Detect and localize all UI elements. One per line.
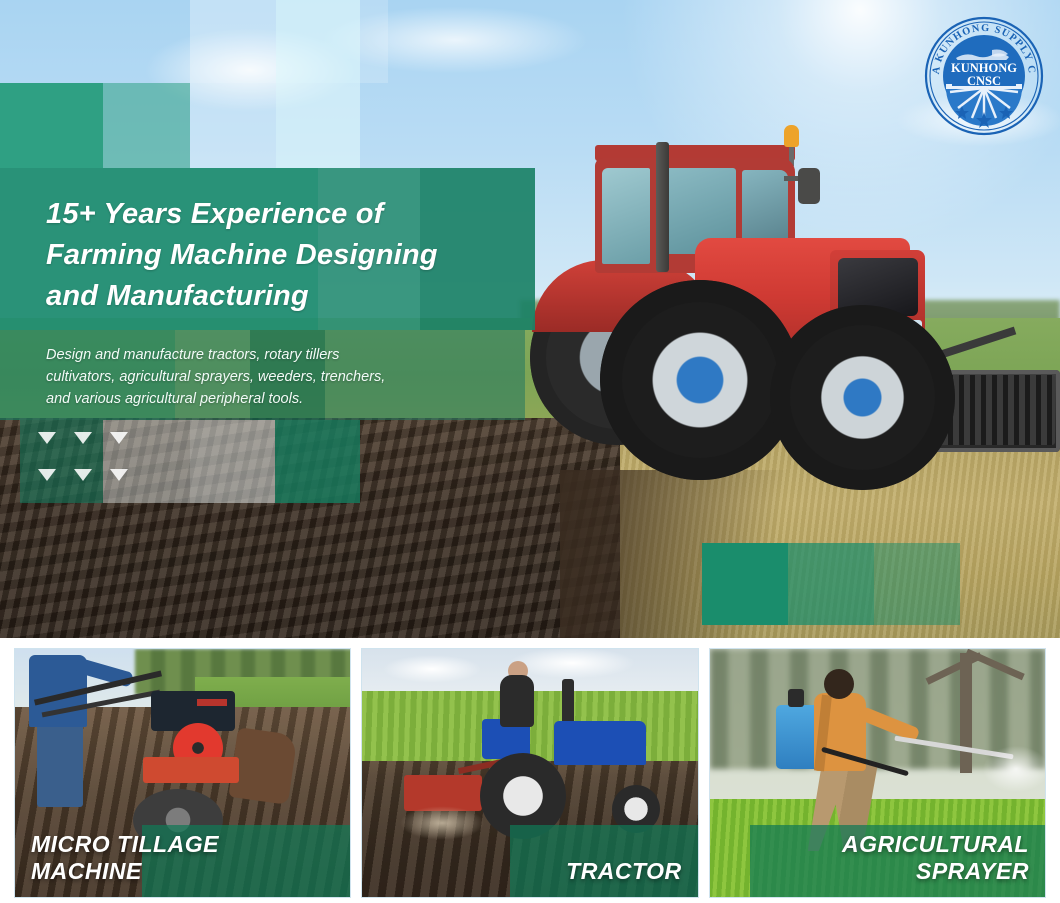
card3-spray-mist <box>972 737 1046 807</box>
card1-engine-label <box>197 699 227 706</box>
tractor-cab-window-left <box>602 168 650 264</box>
decor-block-sky-2 <box>190 83 276 168</box>
hero-headline: 15+ Years Experience of Farming Machine … <box>46 194 526 318</box>
subtext-line-1: Design and manufacture tractors, rotary … <box>46 344 486 366</box>
card3-sprayer-tank-lid <box>788 689 804 707</box>
card2-exhaust-pipe <box>562 679 574 727</box>
decor-block-bottom-3 <box>190 420 275 503</box>
logo-center-line-2: CNSC <box>967 74 1001 88</box>
tractor-beacon-light <box>784 125 799 147</box>
card1-tiller-body <box>143 757 239 783</box>
product-card-micro-tillage[interactable]: MICRO TILLAGE MACHINE <box>14 648 351 898</box>
subtext-line-2: cultivators, agricultural sprayers, weed… <box>46 366 486 388</box>
decor-block-teal-solid <box>0 83 103 168</box>
tractor-side-mirror <box>798 168 820 204</box>
product-card-row: MICRO TILLAGE MACHINE TRACTOR <box>0 638 1060 903</box>
card1-label: MICRO TILLAGE MACHINE <box>15 831 350 885</box>
decor-block-right-1 <box>702 543 788 625</box>
subtext-line-3: and various agricultural peripheral tool… <box>46 388 486 410</box>
card2-label: TRACTOR <box>362 858 697 885</box>
card2-driver-body <box>500 675 534 727</box>
company-logo[interactable]: KUNHONG CNSC CHINA KUNHONG SUPPLY CHAIN <box>922 14 1046 138</box>
triangle-down-icon <box>74 432 92 444</box>
decor-block-right-2 <box>788 543 874 625</box>
product-card-sprayer[interactable]: AGRICULTURAL SPRAYER <box>709 648 1046 898</box>
decor-block-sky-3 <box>276 0 360 83</box>
triangle-down-icon <box>38 469 56 481</box>
triangle-down-icon <box>38 432 56 444</box>
card3-farmer-head <box>824 669 854 699</box>
card3-label: AGRICULTURAL SPRAYER <box>710 831 1045 885</box>
headline-line-2: Farming Machine Designing <box>46 235 526 276</box>
headline-line-3: and Manufacturing <box>46 276 526 317</box>
decor-block-sky-4 <box>276 83 360 168</box>
card3-tree-trunk <box>960 653 972 773</box>
decor-block-right-3 <box>874 543 960 625</box>
product-card-tractor[interactable]: TRACTOR <box>361 648 698 898</box>
card1-operator-legs <box>37 723 83 807</box>
triangle-down-icon <box>110 432 128 444</box>
red-tractor-illustration <box>540 120 1060 540</box>
triangle-down-icon <box>74 469 92 481</box>
hero-subtext: Design and manufacture tractors, rotary … <box>46 344 486 411</box>
decor-block-sky-1 <box>190 0 276 83</box>
decor-block-bottom-4 <box>275 420 360 503</box>
tractor-exhaust-stack <box>656 142 669 272</box>
headline-line-1: 15+ Years Experience of <box>46 194 526 235</box>
decor-block-sky-5 <box>360 0 388 83</box>
hero-banner: 15+ Years Experience of Farming Machine … <box>0 0 1060 638</box>
triangle-down-icon <box>110 469 128 481</box>
triangle-decor-grid <box>38 432 158 494</box>
tractor-front-wheel <box>770 305 955 490</box>
logo-center-line-1: KUNHONG <box>951 61 1017 75</box>
decor-block-teal-soft <box>103 83 190 168</box>
tractor-rear-wheel <box>600 280 800 480</box>
card2-tractor-hood <box>554 721 646 765</box>
